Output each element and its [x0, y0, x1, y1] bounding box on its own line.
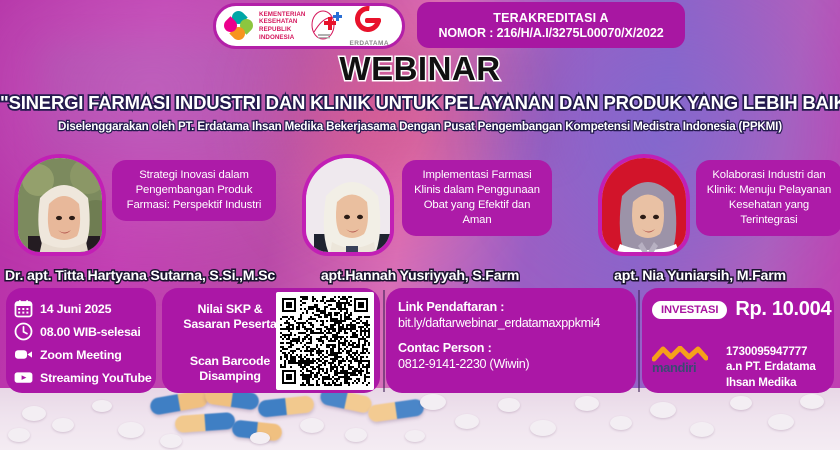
schedule-streaming-row: Streaming YouTube	[14, 366, 148, 389]
skp-line-2: Sasaran Peserta	[170, 317, 290, 332]
capsule	[367, 398, 425, 423]
mandiri-logo: mandiri	[652, 346, 722, 375]
header: KEMENTERIAN KESEHATAN REPUBLIK INDONESIA…	[0, 0, 840, 52]
account-holder-line-2: Ihsan Medika	[726, 375, 816, 390]
speaker-card: Implementasi Farmasi Klinis dalam Penggu…	[280, 150, 560, 282]
accreditation-title: TERAKREDITASI A	[493, 11, 609, 25]
tablet	[405, 430, 425, 442]
skp-heading: Nilai SKP & Sasaran Peserta	[170, 302, 290, 332]
speaker-photo-3	[602, 158, 686, 252]
video-camera-icon	[14, 345, 33, 364]
tablet	[160, 434, 182, 448]
speakers-section: Strategi Inovasi dalam Pengembangan Prod…	[0, 150, 840, 282]
tablet	[92, 400, 112, 412]
capsule	[174, 412, 235, 433]
schedule-platform-row: Zoom Meeting	[14, 343, 148, 366]
account-holder-line-1: a.n PT. Erdatama	[726, 359, 816, 374]
avatar	[598, 154, 690, 256]
title-block: WEBINAR "SINERGI FARMASI INDUSTRI DAN KL…	[0, 52, 840, 133]
webinar-slogan: "SINERGI FARMASI INDUSTRI DAN KLINIK UNT…	[0, 92, 840, 114]
qr-code[interactable]	[276, 292, 374, 390]
schedule-streaming: Streaming YouTube	[40, 371, 152, 385]
kemenkes-logo-text: KEMENTERIAN KESEHATAN REPUBLIK INDONESIA	[259, 11, 305, 42]
speaker-topic: Strategi Inovasi dalam Pengembangan Prod…	[112, 160, 276, 221]
schedule-platform: Zoom Meeting	[40, 348, 122, 362]
tablet	[455, 414, 479, 429]
background-pills-photo	[0, 388, 840, 450]
investment-card: INVESTASI Rp. 10.004 mandiri 17300959477…	[642, 288, 834, 393]
clock-icon	[14, 322, 33, 341]
tablet	[730, 396, 752, 410]
contact-person-value[interactable]: 0812-9141-2230 (Wiwin)	[398, 357, 624, 371]
tablet	[800, 394, 824, 409]
info-section: 14 Juni 2025 08.00 WIB-selesai Zoom Meet…	[0, 288, 840, 396]
avatar	[302, 154, 394, 256]
tablet	[650, 402, 676, 418]
speaker-photo-1	[18, 158, 102, 252]
registration-link-label: Link Pendaftaran :	[398, 300, 624, 314]
tablet	[768, 414, 794, 430]
kemenkes-line-4: INDONESIA	[259, 34, 305, 42]
speaker-name: apt. Nia Yuniarsih, M.Farm	[560, 268, 840, 284]
schedule-time-row: 08.00 WIB-selesai	[14, 320, 148, 343]
tablet	[690, 422, 714, 437]
investment-row: INVESTASI Rp. 10.004	[652, 298, 831, 321]
webinar-heading: WEBINAR	[0, 52, 840, 87]
organizer-line: Diselenggarakan oleh PT. Erdatama Ihsan …	[0, 120, 840, 133]
tablet	[22, 406, 46, 421]
contact-person-label: Contac Person :	[398, 341, 624, 355]
skp-line-4: Disamping	[170, 369, 290, 384]
youtube-icon	[14, 368, 33, 387]
speaker-card: Kolaborasi Industri dan Klinik: Menuju P…	[560, 150, 840, 282]
skp-scan-instruction: Scan Barcode Disamping	[170, 354, 290, 384]
hospital-cross-icon	[310, 10, 344, 42]
investment-badge: INVESTASI	[652, 301, 727, 319]
registration-card: Link Pendaftaran : bit.ly/daftarwebinar_…	[386, 288, 636, 393]
tablet	[610, 416, 632, 430]
erdatama-bar-icon	[365, 18, 381, 23]
schedule-card: 14 Juni 2025 08.00 WIB-selesai Zoom Meet…	[6, 288, 156, 393]
tablet	[300, 418, 324, 433]
kemenkes-line-1: KEMENTERIAN	[259, 11, 305, 19]
registration-link-value[interactable]: bit.ly/daftarwebinar_erdatamaxppkmi4	[398, 316, 624, 330]
speaker-card: Strategi Inovasi dalam Pengembangan Prod…	[0, 150, 280, 282]
schedule-date: 14 Juni 2025	[40, 302, 111, 316]
calendar-icon	[14, 299, 33, 318]
tablet	[345, 428, 367, 442]
accreditation-number: NOMOR : 216/H/A.I/3275L00070/X/2022	[438, 26, 663, 40]
schedule-date-row: 14 Juni 2025	[14, 297, 148, 320]
tablet	[420, 394, 446, 410]
avatar	[14, 154, 106, 256]
speaker-photo-2	[306, 158, 390, 252]
mandiri-wordmark: mandiri	[652, 360, 722, 375]
speaker-topic: Kolaborasi Industri dan Klinik: Menuju P…	[696, 160, 840, 236]
skp-card: Nilai SKP & Sasaran Peserta Scan Barcode…	[162, 288, 380, 393]
kemenkes-line-3: REPUBLIK	[259, 26, 305, 34]
skp-line-3: Scan Barcode	[170, 354, 290, 369]
tablet	[8, 428, 30, 442]
account-number: 1730095947777	[726, 344, 816, 359]
tablet	[575, 396, 599, 411]
skp-line-1: Nilai SKP &	[170, 302, 290, 317]
speaker-topic: Implementasi Farmasi Klinis dalam Penggu…	[402, 160, 552, 236]
kemenkes-line-2: KESEHATAN	[259, 18, 305, 26]
tablet	[498, 398, 520, 412]
erdatama-label: ERDATAMA	[349, 40, 388, 47]
bank-account-info: 1730095947777 a.n PT. Erdatama Ihsan Med…	[726, 344, 816, 390]
speaker-name: apt.Hannah Yusriyyah, S.Farm	[280, 268, 560, 284]
erdatama-logo: ERDATAMA	[349, 6, 397, 46]
divider-right	[638, 290, 640, 392]
schedule-time: 08.00 WIB-selesai	[40, 325, 141, 339]
kemenkes-flower-icon	[224, 11, 254, 41]
tablet	[530, 420, 556, 436]
tablet	[250, 432, 270, 444]
capsule	[257, 395, 314, 418]
ministry-logo-card: KEMENTERIAN KESEHATAN REPUBLIK INDONESIA…	[213, 3, 405, 49]
divider-left	[383, 290, 385, 392]
tablet	[118, 422, 144, 438]
investment-amount: Rp. 10.004	[735, 298, 831, 321]
tablet	[52, 418, 74, 432]
accreditation-badge: TERAKREDITASI A NOMOR : 216/H/A.I/3275L0…	[417, 2, 685, 48]
speaker-name: Dr. apt. Titta Hartyana Sutarna, S.Si.,M…	[0, 268, 280, 284]
